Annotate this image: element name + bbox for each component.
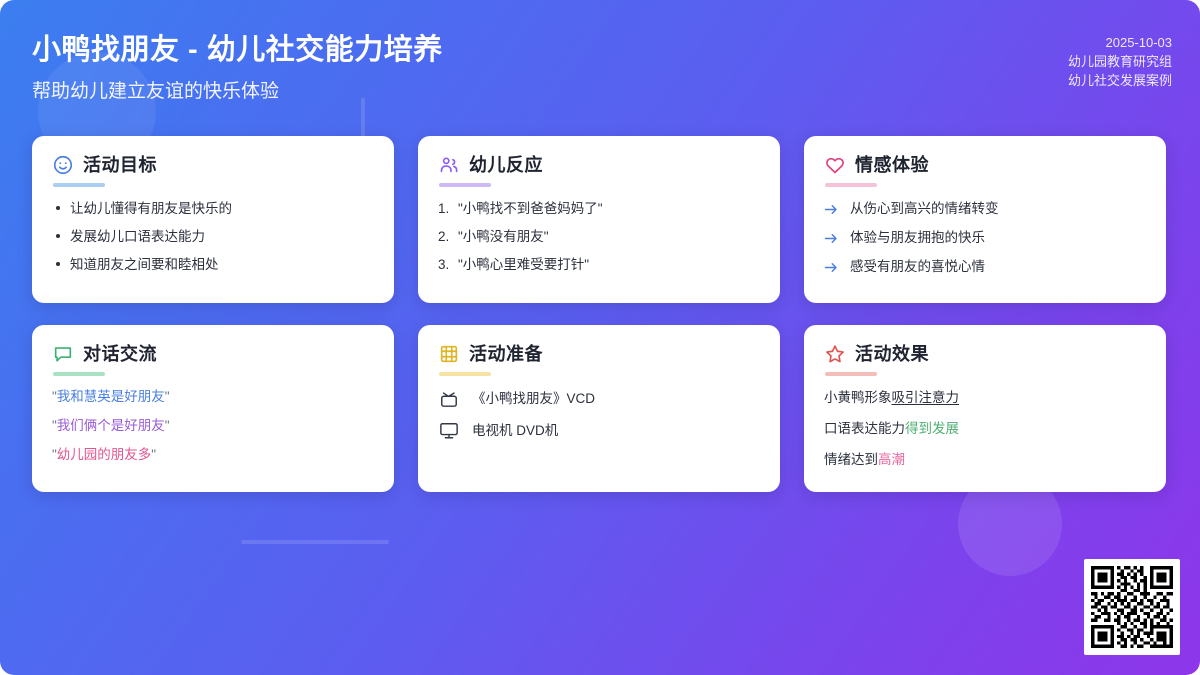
bullet-list-goals: 让幼儿懂得有朋友是快乐的发展幼儿口语表达能力知道朋友之间要和睦相处 (52, 200, 374, 273)
smiley-icon (52, 154, 74, 176)
qr-code[interactable] (1084, 559, 1180, 655)
card-body-effects: 小黄鸭形象吸引注意力口语表达能力得到发展情绪达到高潮 (824, 389, 1146, 468)
qr-code-image (1091, 566, 1173, 648)
list-item: "小鸭找不到爸爸妈妈了" (438, 200, 760, 217)
arrow-right-icon (824, 261, 839, 274)
list-item: 知道朋友之间要和睦相处 (52, 256, 374, 273)
media-label: 《小鸭找朋友》VCD (472, 390, 595, 408)
card-body-preparation: 《小鸭找朋友》VCD电视机 DVD机 (438, 389, 760, 440)
media-item: 电视机 DVD机 (438, 421, 760, 440)
card-body-reactions: "小鸭找不到爸爸妈妈了""小鸭没有朋友""小鸭心里难受要打针" (438, 200, 760, 273)
list-item-label: 体验与朋友拥抱的快乐 (850, 229, 985, 247)
card-accent-bar-dialogue (53, 372, 105, 376)
card-body-emotions: 从伤心到高兴的情绪转变体验与朋友拥抱的快乐感受有朋友的喜悦心情 (824, 200, 1146, 276)
users-icon (438, 154, 460, 176)
list-item: 让幼儿懂得有朋友是快乐的 (52, 200, 374, 217)
card-accent-bar-reactions (439, 183, 491, 187)
card-header-dialogue: 对话交流 (52, 343, 374, 365)
decorative-line-horizontal (241, 540, 389, 544)
list-item: "小鸭心里难受要打针" (438, 256, 760, 273)
media-item: 《小鸭找朋友》VCD (438, 389, 760, 408)
card-accent-bar-emotions (825, 183, 877, 187)
quote-item: "我们俩个是好朋友" (52, 418, 374, 434)
card-header-emotions: 情感体验 (824, 154, 1146, 176)
card-header-effects: 活动效果 (824, 343, 1146, 365)
heart-icon (824, 154, 846, 176)
card-header-goals: 活动目标 (52, 154, 374, 176)
card-accent-bar-preparation (439, 372, 491, 376)
list-item: "小鸭没有朋友" (438, 228, 760, 245)
effect-highlight: 吸引注意力 (892, 390, 960, 405)
card-accent-bar-effects (825, 372, 877, 376)
list-item-label: 从伤心到高兴的情绪转变 (850, 200, 999, 218)
chat-bubble-icon (52, 343, 74, 365)
card-title-reactions: 幼儿反应 (469, 154, 543, 176)
retro-tv-icon (438, 389, 460, 408)
card-grid: 活动目标让幼儿懂得有朋友是快乐的发展幼儿口语表达能力知道朋友之间要和睦相处幼儿反… (32, 136, 1168, 492)
card-goals: 活动目标让幼儿懂得有朋友是快乐的发展幼儿口语表达能力知道朋友之间要和睦相处 (32, 136, 394, 303)
numbered-list-reactions: "小鸭找不到爸爸妈妈了""小鸭没有朋友""小鸭心里难受要打针" (438, 200, 760, 273)
effect-plain: 小黄鸭形象 (824, 390, 892, 405)
card-title-preparation: 活动准备 (469, 343, 543, 365)
card-emotions: 情感体验从伤心到高兴的情绪转变体验与朋友拥抱的快乐感受有朋友的喜悦心情 (804, 136, 1166, 303)
list-item: 感受有朋友的喜悦心情 (824, 258, 1146, 276)
card-title-dialogue: 对话交流 (83, 343, 157, 365)
header-meta: 2025-10-03 幼儿园教育研究组 幼儿社交发展案例 (1068, 33, 1172, 90)
effect-highlight: 高潮 (878, 452, 905, 467)
card-title-emotions: 情感体验 (855, 154, 929, 176)
effect-item: 口语表达能力得到发展 (824, 420, 1146, 437)
slide-header: 小鸭找朋友 - 幼儿社交能力培养 帮助幼儿建立友谊的快乐体验 2025-10-0… (0, 0, 1200, 118)
arrow-right-icon (824, 232, 839, 245)
meta-date: 2025-10-03 (1068, 33, 1172, 52)
list-item-label: 感受有朋友的喜悦心情 (850, 258, 985, 276)
quote-item: "我和慧英是好朋友" (52, 389, 374, 405)
card-header-reactions: 幼儿反应 (438, 154, 760, 176)
card-body-dialogue: "我和慧英是好朋友""我们俩个是好朋友""幼儿园的朋友多" (52, 389, 374, 463)
meta-category: 幼儿社交发展案例 (1068, 71, 1172, 90)
card-header-preparation: 活动准备 (438, 343, 760, 365)
slide-root: 小鸭找朋友 - 幼儿社交能力培养 帮助幼儿建立友谊的快乐体验 2025-10-0… (0, 0, 1200, 675)
quote-text: 幼儿园的朋友多 (57, 447, 152, 462)
quote-item: "幼儿园的朋友多" (52, 447, 374, 463)
effect-highlight: 得到发展 (905, 421, 959, 436)
card-accent-bar-goals (53, 183, 105, 187)
page-title: 小鸭找朋友 - 幼儿社交能力培养 (32, 26, 443, 68)
effect-plain: 情绪达到 (824, 452, 878, 467)
effect-item: 情绪达到高潮 (824, 451, 1146, 468)
quote-mark-close: " (165, 418, 170, 433)
quote-text: 我和慧英是好朋友 (57, 389, 165, 404)
monitor-icon (438, 421, 460, 440)
quote-text: 我们俩个是好朋友 (57, 418, 165, 433)
card-dialogue: 对话交流"我和慧英是好朋友""我们俩个是好朋友""幼儿园的朋友多" (32, 325, 394, 492)
quote-mark-close: " (165, 389, 170, 404)
effect-plain: 口语表达能力 (824, 421, 905, 436)
arrow-list-emotions: 从伤心到高兴的情绪转变体验与朋友拥抱的快乐感受有朋友的喜悦心情 (824, 200, 1146, 276)
page-subtitle: 帮助幼儿建立友谊的快乐体验 (32, 76, 279, 103)
effect-item: 小黄鸭形象吸引注意力 (824, 389, 1146, 406)
card-reactions: 幼儿反应"小鸭找不到爸爸妈妈了""小鸭没有朋友""小鸭心里难受要打针" (418, 136, 780, 303)
film-strip-icon (438, 343, 460, 365)
card-body-goals: 让幼儿懂得有朋友是快乐的发展幼儿口语表达能力知道朋友之间要和睦相处 (52, 200, 374, 273)
card-effects: 活动效果小黄鸭形象吸引注意力口语表达能力得到发展情绪达到高潮 (804, 325, 1166, 492)
card-preparation: 活动准备《小鸭找朋友》VCD电视机 DVD机 (418, 325, 780, 492)
arrow-right-icon (824, 203, 839, 216)
star-icon (824, 343, 846, 365)
list-item: 从伤心到高兴的情绪转变 (824, 200, 1146, 218)
list-item: 发展幼儿口语表达能力 (52, 228, 374, 245)
list-item: 体验与朋友拥抱的快乐 (824, 229, 1146, 247)
meta-org: 幼儿园教育研究组 (1068, 52, 1172, 71)
card-title-effects: 活动效果 (855, 343, 929, 365)
card-title-goals: 活动目标 (83, 154, 157, 176)
quote-mark-close: " (151, 447, 156, 462)
media-label: 电视机 DVD机 (472, 422, 558, 440)
